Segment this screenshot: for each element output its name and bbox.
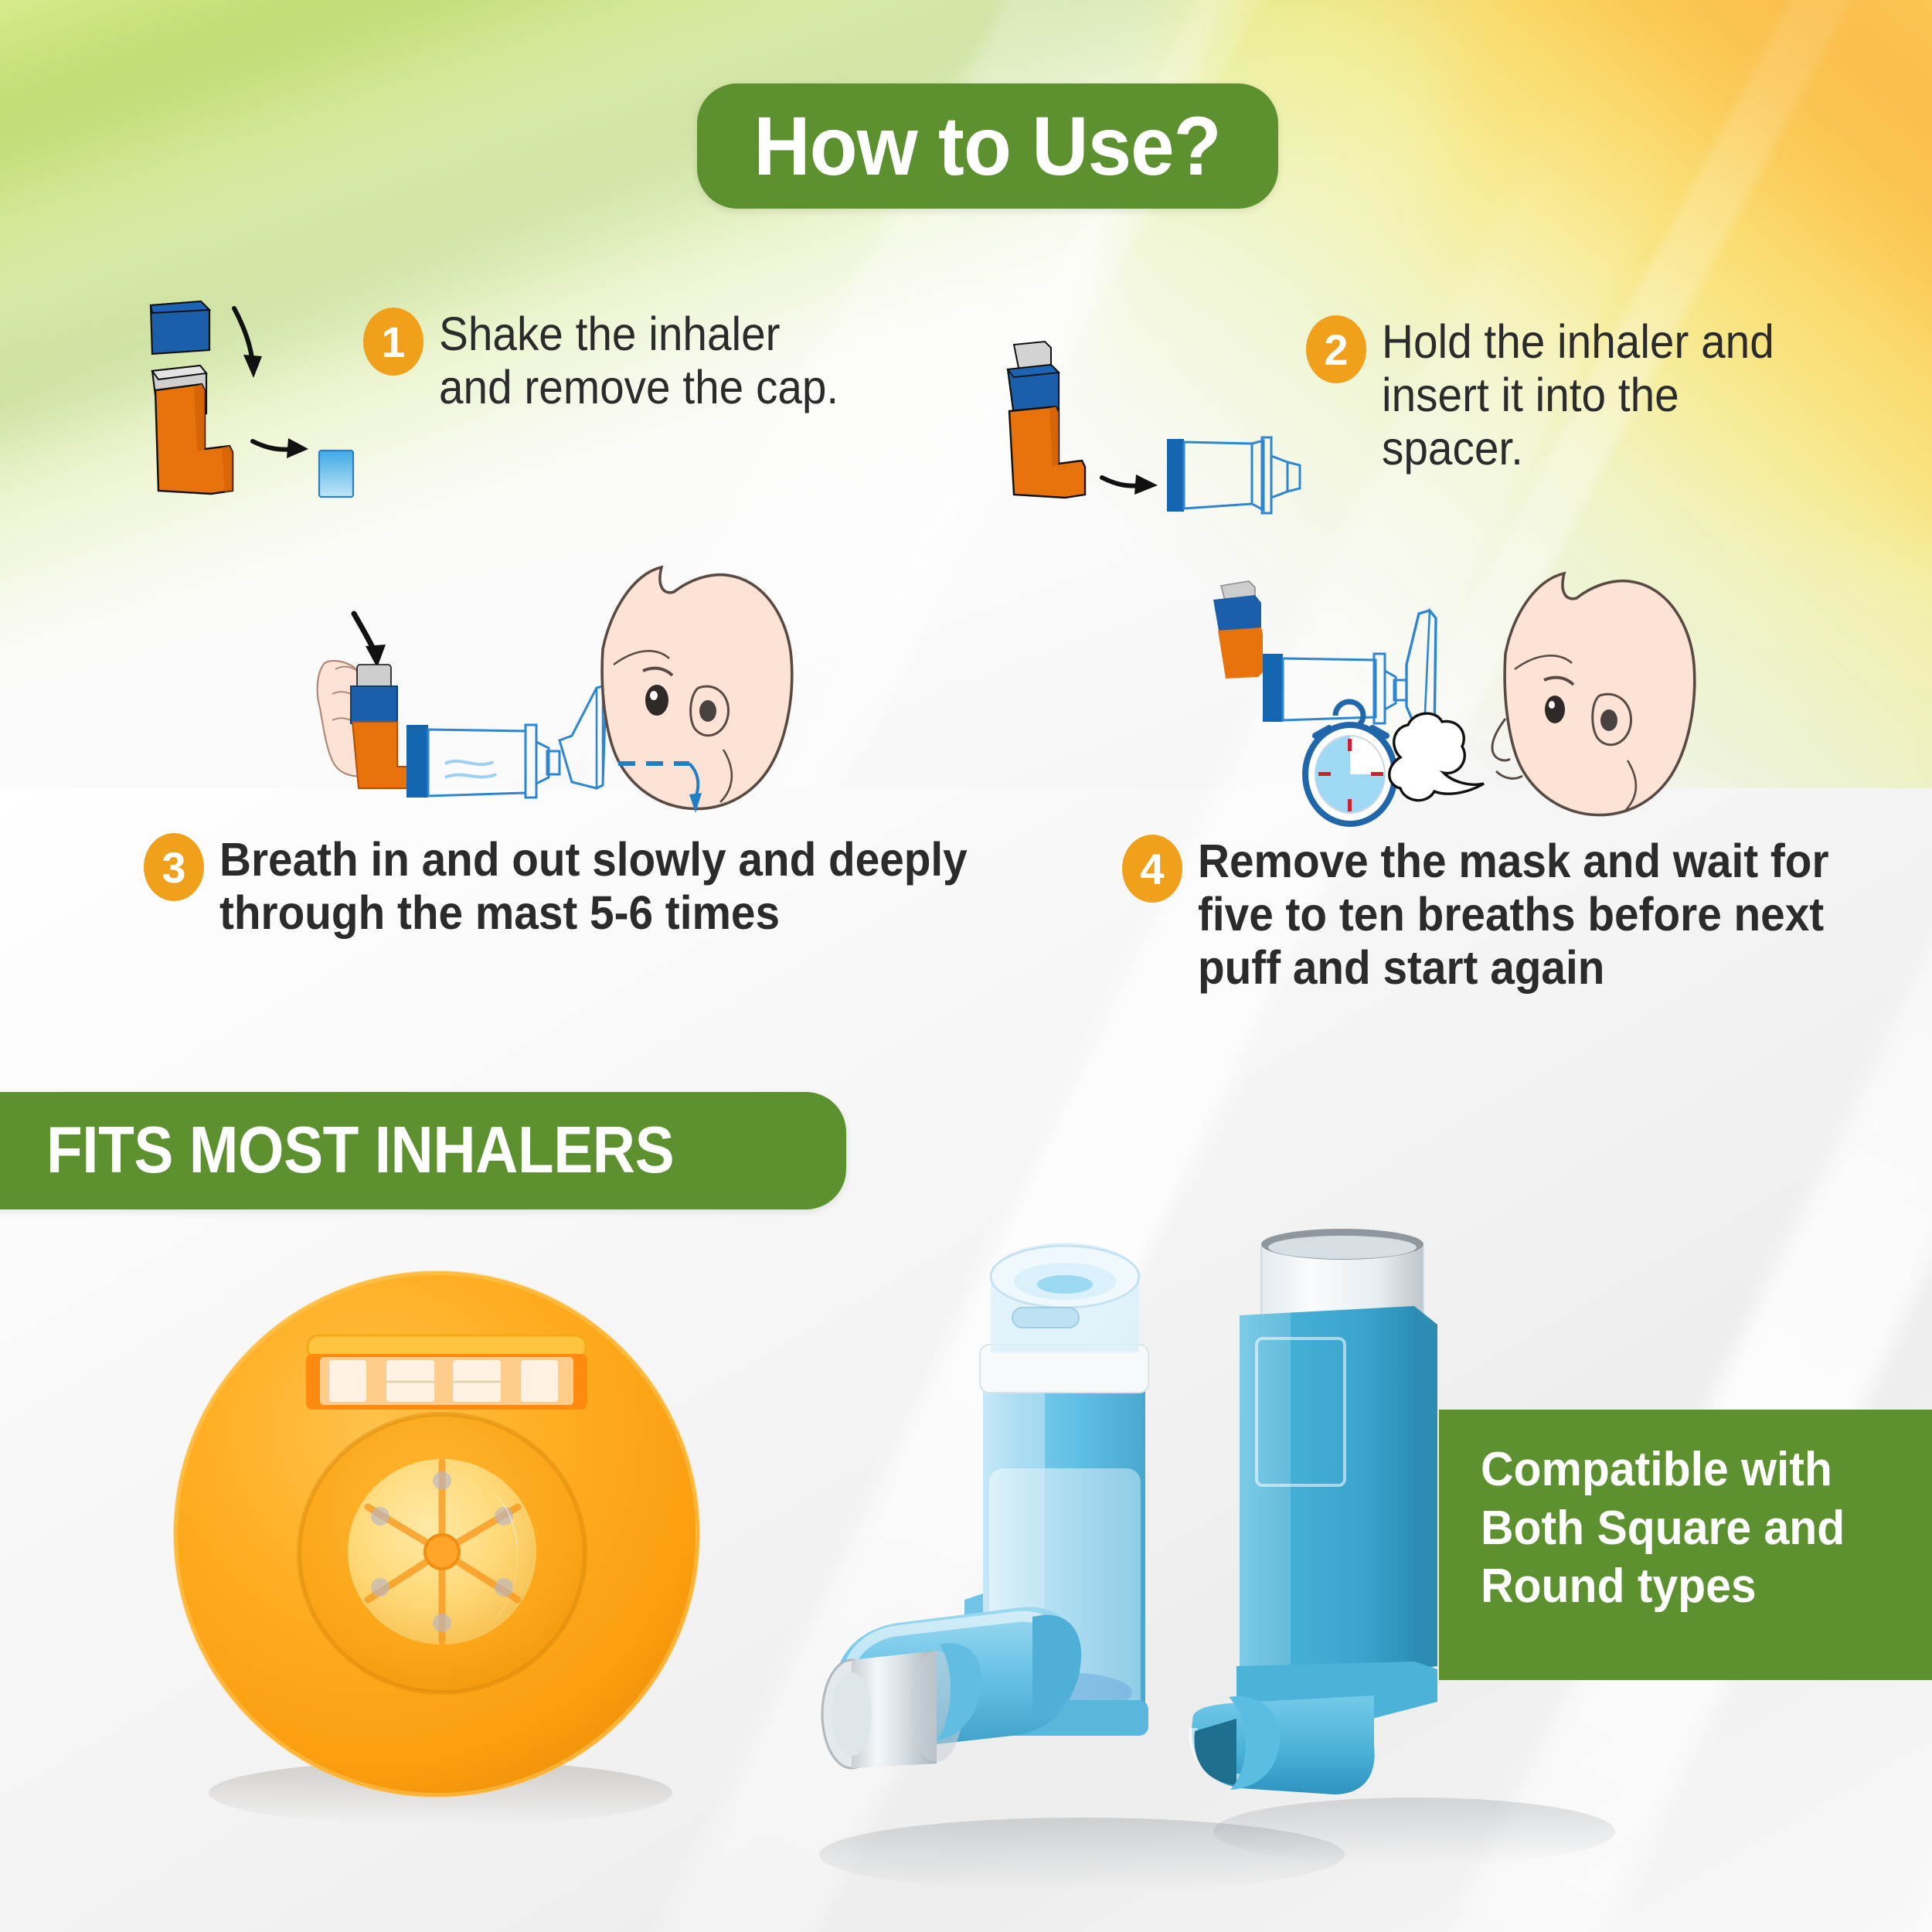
- inhaler-slot: [1012, 1308, 1079, 1328]
- step-4: 4 Remove the mask and wait for five to t…: [1122, 835, 1876, 995]
- step-3: 3 Breath in and out slowly and deeply th…: [144, 833, 1024, 940]
- orange-round-mask-product: [155, 1244, 742, 1862]
- baby-eye: [1545, 696, 1565, 723]
- inhaler-body-orange: [1009, 406, 1085, 498]
- spacer-inhaler-port: [1263, 654, 1283, 722]
- spacer-collar: [526, 725, 536, 798]
- fits-banner-label: FITS MOST INHALERS: [46, 1113, 674, 1189]
- square-inhaler-mouthpiece: [1192, 1696, 1374, 1794]
- page-title-badge: How to Use?: [697, 83, 1278, 209]
- step-3-text: Breath in and out slowly and deeply thro…: [219, 833, 968, 940]
- round-inhaler-lying: [822, 1607, 1081, 1768]
- mask-clip-valve: [306, 1335, 587, 1410]
- spacer-inhaler-port: [406, 725, 428, 798]
- breath-cloud-icon: [1389, 713, 1484, 801]
- step-2: 2 Hold the inhaler and insert it into th…: [1306, 315, 1804, 475]
- mask-hub: [425, 1535, 459, 1569]
- inhaler-cap-blue: [351, 686, 397, 723]
- step-2-number: 2: [1306, 315, 1366, 383]
- step-1-text: Shake the inhaler and remove the cap.: [439, 308, 838, 414]
- step-2-text: Hold the inhaler and insert it into the …: [1382, 315, 1774, 475]
- baby-eye: [645, 685, 668, 716]
- inhaler-body-orange: [155, 384, 233, 494]
- step-4-text: Remove the mask and wait for five to ten…: [1198, 835, 1829, 995]
- product-shadow: [1213, 1798, 1615, 1866]
- page-title: How to Use?: [754, 104, 1221, 188]
- step2-illustration: [997, 340, 1352, 518]
- step-1-number: 1: [363, 308, 423, 376]
- step-3-number: 3: [144, 833, 204, 901]
- step3-illustration: [294, 556, 835, 827]
- compatibility-text: Compatible with Both Square and Round ty…: [1481, 1440, 1932, 1616]
- compatibility-panel: Compatible with Both Square and Round ty…: [1439, 1410, 1932, 1680]
- inhaler-body-orange: [352, 722, 410, 788]
- mouthpiece-cap-lightblue: [319, 451, 353, 497]
- step1-illustration: [135, 298, 383, 529]
- baby-head: [1505, 573, 1695, 815]
- spacer-inhaler-port: [1167, 439, 1184, 512]
- spacer-body: [1184, 442, 1252, 509]
- step4-illustration: [1198, 564, 1739, 835]
- step-4-number: 4: [1122, 835, 1182, 903]
- airflow-line: [445, 761, 493, 764]
- face-mask: [560, 686, 606, 788]
- baby-mouth: [1496, 771, 1522, 778]
- inhaler-body-orange: [1218, 628, 1263, 679]
- spacer-nozzle: [1271, 456, 1287, 498]
- step-1: 1 Shake the inhaler and remove the cap.: [363, 308, 869, 414]
- airflow-line: [445, 774, 496, 777]
- fits-most-inhalers-banner: FITS MOST INHALERS: [0, 1092, 846, 1209]
